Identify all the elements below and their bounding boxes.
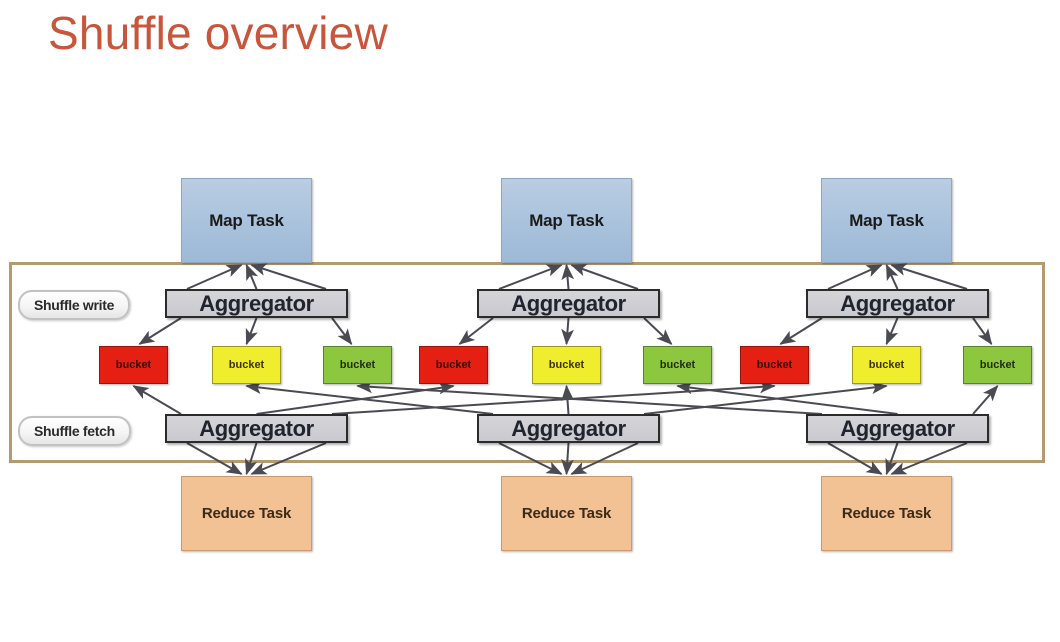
shuffle-overview-diagram: Shuffle overview Map Task Map Task Map T…	[0, 0, 1060, 642]
aggregator-label: Aggregator	[511, 291, 626, 317]
bucket-node: bucket	[643, 346, 712, 384]
bucket-node: bucket	[212, 346, 281, 384]
aggregator-label: Aggregator	[840, 291, 955, 317]
stage-label-text: Shuffle write	[34, 297, 114, 313]
aggregator-label: Aggregator	[511, 416, 626, 442]
map-task-node: Map Task	[181, 178, 312, 263]
bucket-label: bucket	[660, 359, 695, 371]
stage-label-text: Shuffle fetch	[34, 423, 115, 439]
write-aggregator-node: Aggregator	[165, 289, 348, 318]
reduce-task-node: Reduce Task	[181, 476, 312, 551]
shuffle-fetch-label: Shuffle fetch	[18, 416, 131, 446]
write-aggregator-node: Aggregator	[477, 289, 660, 318]
aggregator-label: Aggregator	[199, 291, 314, 317]
aggregator-label: Aggregator	[199, 416, 314, 442]
bucket-label: bucket	[980, 359, 1015, 371]
map-task-label: Map Task	[849, 211, 924, 231]
bucket-label: bucket	[436, 359, 471, 371]
bucket-node: bucket	[419, 346, 488, 384]
reduce-task-label: Reduce Task	[202, 505, 291, 522]
bucket-label: bucket	[757, 359, 792, 371]
map-task-label: Map Task	[209, 211, 284, 231]
bucket-label: bucket	[340, 359, 375, 371]
map-task-label: Map Task	[529, 211, 604, 231]
bucket-label: bucket	[869, 359, 904, 371]
bucket-node: bucket	[740, 346, 809, 384]
bucket-node: bucket	[852, 346, 921, 384]
bucket-node: bucket	[963, 346, 1032, 384]
aggregator-label: Aggregator	[840, 416, 955, 442]
bucket-node: bucket	[532, 346, 601, 384]
fetch-aggregator-node: Aggregator	[165, 414, 348, 443]
map-task-node: Map Task	[501, 178, 632, 263]
map-task-node: Map Task	[821, 178, 952, 263]
reduce-task-node: Reduce Task	[821, 476, 952, 551]
write-aggregator-node: Aggregator	[806, 289, 989, 318]
shuffle-write-label: Shuffle write	[18, 290, 130, 320]
bucket-label: bucket	[229, 359, 264, 371]
bucket-label: bucket	[549, 359, 584, 371]
bucket-node: bucket	[99, 346, 168, 384]
fetch-aggregator-node: Aggregator	[477, 414, 660, 443]
bucket-label: bucket	[116, 359, 151, 371]
page-title: Shuffle overview	[48, 6, 388, 61]
fetch-aggregator-node: Aggregator	[806, 414, 989, 443]
reduce-task-label: Reduce Task	[842, 505, 931, 522]
bucket-node: bucket	[323, 346, 392, 384]
reduce-task-node: Reduce Task	[501, 476, 632, 551]
reduce-task-label: Reduce Task	[522, 505, 611, 522]
